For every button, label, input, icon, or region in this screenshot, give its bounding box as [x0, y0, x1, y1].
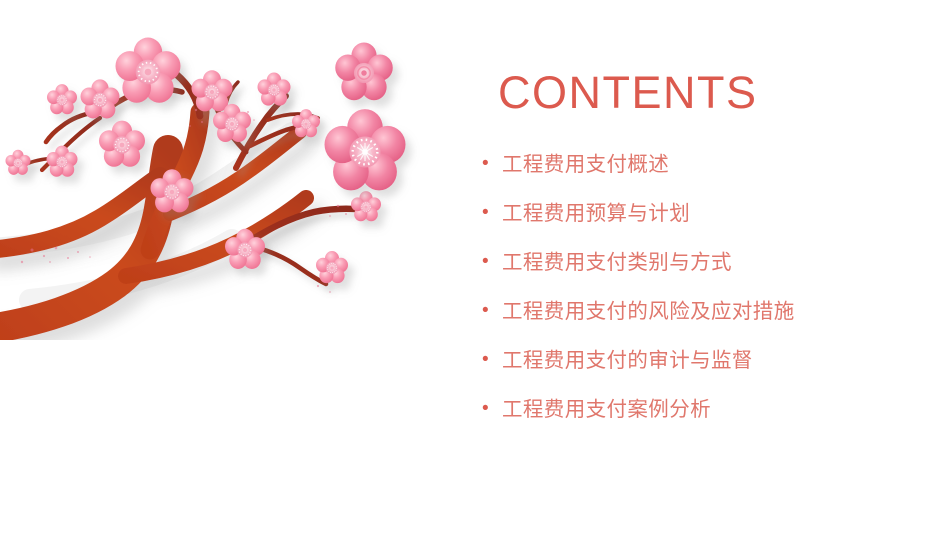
list-item[interactable]: • 工程费用预算与计划	[470, 199, 890, 227]
list-item-label: 工程费用支付的审计与监督	[502, 346, 818, 374]
bullet-icon: •	[470, 395, 502, 423]
blossom-icon	[225, 229, 265, 269]
blossom-cluster	[6, 38, 382, 284]
plum-blossom-illustration	[0, 0, 440, 340]
floating-blossoms	[325, 43, 406, 191]
blossom-icon	[47, 146, 78, 177]
bullet-icon: •	[470, 199, 502, 227]
list-item[interactable]: • 工程费用支付的审计与监督	[470, 346, 890, 374]
list-item[interactable]: • 工程费用支付类别与方式	[470, 248, 890, 276]
blossom-icon	[325, 109, 406, 190]
bullet-icon: •	[470, 346, 502, 374]
list-item-label: 工程费用支付的风险及应对措施	[502, 297, 812, 325]
petal-speckles	[21, 109, 347, 293]
page-title: CONTENTS	[498, 70, 758, 115]
blossom-icon	[81, 79, 120, 118]
contents-panel: CONTENTS • 工程费用支付概述 • 工程费用预算与计划 • 工程费用支付…	[470, 0, 950, 535]
list-item[interactable]: • 工程费用支付概述	[470, 150, 890, 178]
blossom-icon	[292, 109, 320, 137]
tree-branches	[26, 50, 366, 284]
blossom-icon	[116, 38, 181, 103]
blossom-icon	[351, 191, 381, 221]
list-item-label: 工程费用支付概述	[502, 150, 818, 178]
tree-trunk	[0, 112, 306, 330]
blossom-icon	[47, 84, 77, 114]
bullet-icon: •	[470, 248, 502, 276]
blossom-icon	[316, 251, 348, 283]
list-item[interactable]: • 工程费用支付的风险及应对措施	[470, 297, 890, 325]
list-item-label: 工程费用支付案例分析	[502, 395, 818, 423]
bullet-icon: •	[470, 150, 502, 178]
blossom-icon	[335, 43, 393, 101]
blossom-icon	[99, 121, 145, 167]
table-of-contents-list: • 工程费用支付概述 • 工程费用预算与计划 • 工程费用支付类别与方式 • 工…	[470, 150, 890, 423]
list-item-label: 工程费用支付类别与方式	[502, 248, 818, 276]
blossom-icon	[213, 104, 251, 142]
blossom-icon	[6, 150, 31, 175]
slide-canvas: CONTENTS • 工程费用支付概述 • 工程费用预算与计划 • 工程费用支付…	[0, 0, 950, 535]
list-item-label: 工程费用预算与计划	[502, 199, 818, 227]
list-item[interactable]: • 工程费用支付案例分析	[470, 395, 890, 423]
illustration-shadow-layer	[0, 132, 292, 300]
blossom-icon	[192, 70, 233, 111]
blossom-icon	[258, 73, 291, 106]
bullet-icon: •	[470, 297, 502, 325]
blossom-icon	[151, 169, 194, 212]
